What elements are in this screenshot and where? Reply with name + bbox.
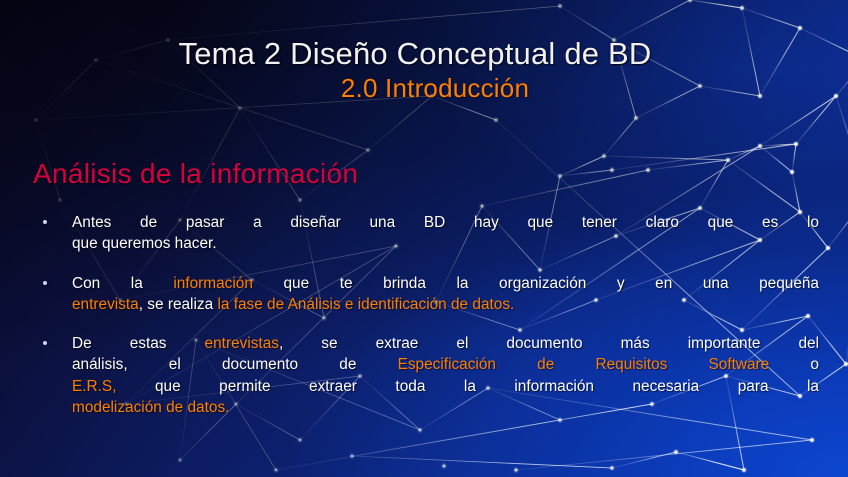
page-title: Tema 2 Diseño Conceptual de BD <box>0 36 848 73</box>
list-item-text: Con la información que te brinda la orga… <box>72 273 819 316</box>
list-item: Con la información que te brinda la orga… <box>33 273 819 316</box>
list-item-line: que queremos hacer. <box>72 233 819 254</box>
section-heading: Análisis de la información <box>33 158 358 190</box>
highlighted-text: modelización de datos. <box>72 399 229 416</box>
plain-text: Con la <box>72 275 173 292</box>
list-item-line: modelización de datos. <box>72 397 819 418</box>
plain-text: De estas <box>72 335 205 352</box>
list-item-line: entrevista, se realiza la fase de Anális… <box>72 294 819 315</box>
list-item-line: E.R.S, que permite extraer toda la infor… <box>72 376 819 397</box>
plain-text: que queremos hacer. <box>72 235 217 252</box>
list-item-text: De estas entrevistas, se extrae el docum… <box>72 333 819 418</box>
list-item-line: Antes de pasar a diseñar una BD hay que … <box>72 212 819 233</box>
plain-text: o <box>769 356 819 373</box>
bullet-dot-icon <box>43 341 47 345</box>
presentation-slide: Tema 2 Diseño Conceptual de BD 2.0 Intro… <box>0 0 848 477</box>
list-item-line: análisis, el documento de Especificación… <box>72 354 819 375</box>
highlighted-text: E.R.S, <box>72 378 116 395</box>
highlighted-text: información <box>173 275 253 292</box>
plain-text: , se realiza <box>139 296 218 313</box>
plain-text: Antes de pasar a diseñar una BD hay que … <box>72 214 819 231</box>
page-subtitle: 2.0 Introducción <box>0 73 848 104</box>
plain-text: , se extrae el documento más importante … <box>279 335 819 352</box>
title-block: Tema 2 Diseño Conceptual de BD 2.0 Intro… <box>0 36 848 104</box>
highlighted-text: la fase de Análisis e identificación de … <box>217 296 514 313</box>
plain-text: que permite extraer toda la información … <box>116 378 819 395</box>
highlighted-text: entrevistas <box>205 335 279 352</box>
bullet-dot-icon <box>43 220 47 224</box>
highlighted-text: Especificación de Requisitos Software <box>398 356 770 373</box>
list-item-line: Con la información que te brinda la orga… <box>72 273 819 294</box>
bullet-dot-icon <box>43 281 47 285</box>
list-item-text: Antes de pasar a diseñar una BD hay que … <box>72 212 819 255</box>
slide-content: Tema 2 Diseño Conceptual de BD 2.0 Intro… <box>0 0 848 477</box>
list-item-line: De estas entrevistas, se extrae el docum… <box>72 333 819 354</box>
bullet-list: Antes de pasar a diseñar una BD hay que … <box>33 212 819 418</box>
plain-text: análisis, el documento de <box>72 356 398 373</box>
list-item: De estas entrevistas, se extrae el docum… <box>33 333 819 418</box>
plain-text: que te brinda la organización y en una p… <box>253 275 819 292</box>
list-item: Antes de pasar a diseñar una BD hay que … <box>33 212 819 255</box>
highlighted-text: entrevista <box>72 296 139 313</box>
